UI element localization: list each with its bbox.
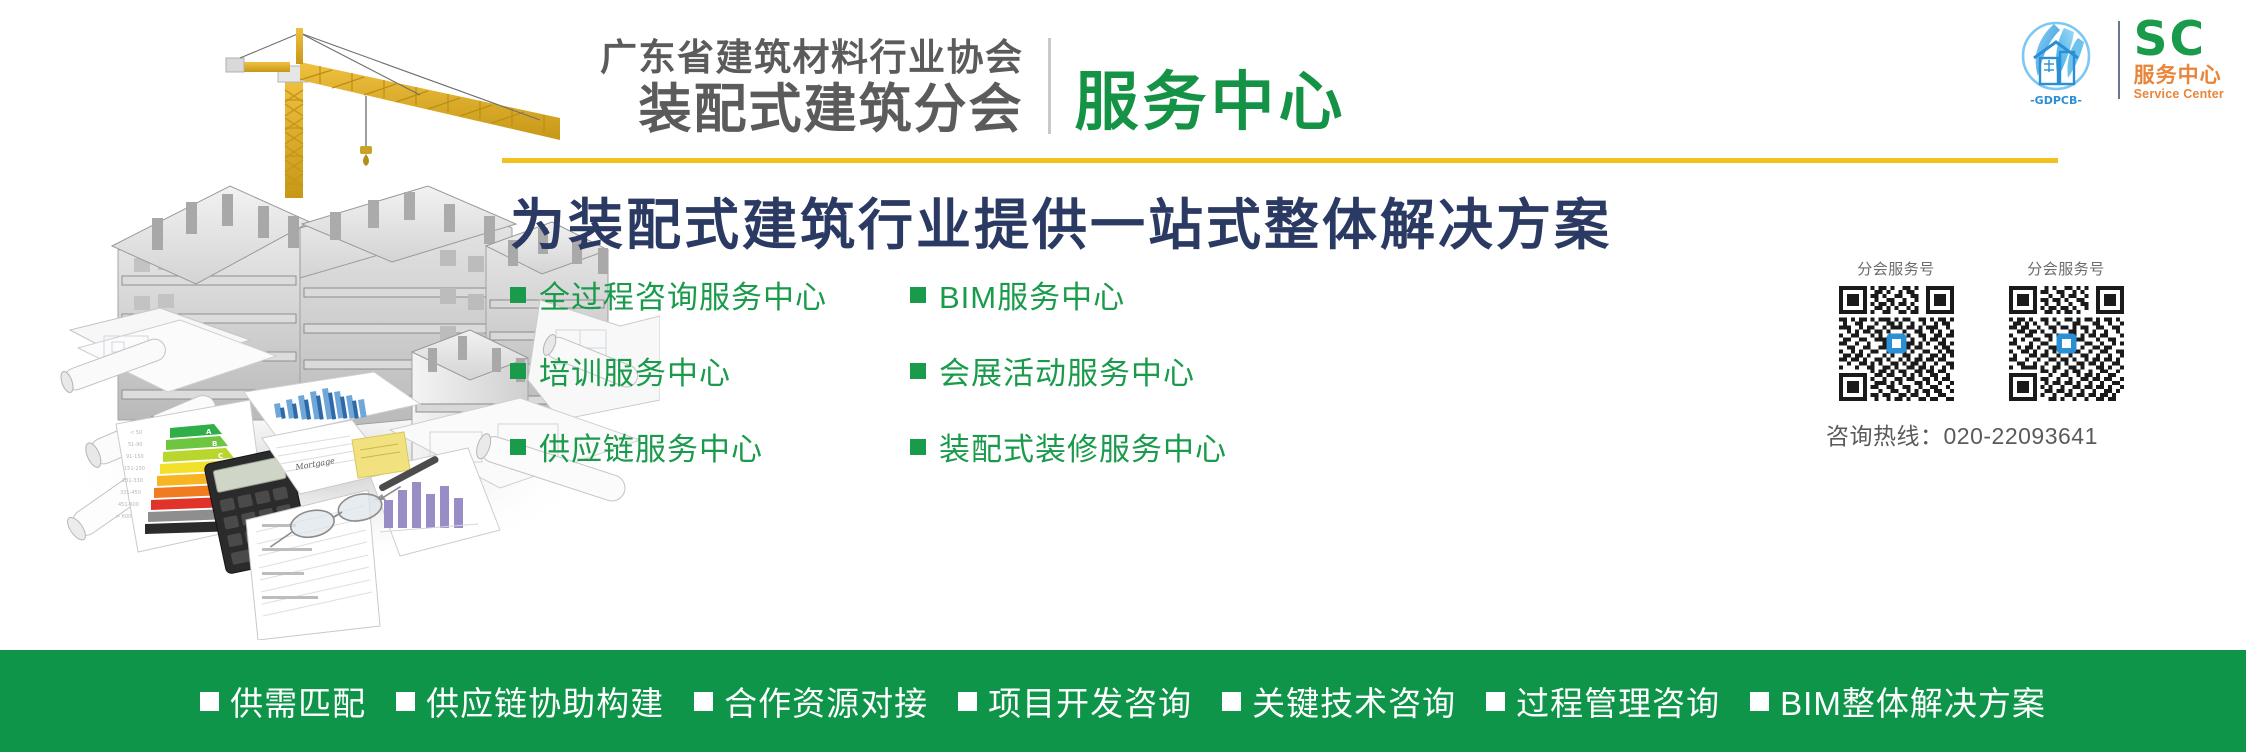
- square-bullet-icon: [1750, 692, 1769, 711]
- square-bullet-icon: [396, 692, 415, 711]
- service-item[interactable]: 会展活动服务中心: [910, 348, 1227, 393]
- square-bullet-icon: [910, 363, 926, 379]
- service-center-title: 服务中心: [1075, 70, 1347, 136]
- svg-text:C: C: [218, 452, 223, 460]
- square-bullet-icon: [510, 363, 526, 379]
- svg-text:451-600: 451-600: [118, 502, 139, 508]
- footer-item[interactable]: 关键技术咨询: [1222, 677, 1456, 725]
- footer-item[interactable]: 项目开发咨询: [958, 677, 1192, 725]
- square-bullet-icon: [958, 692, 977, 711]
- header-title-row: 广东省建筑材料行业协会 装配式建筑分会 服务中心: [600, 38, 1347, 136]
- footer-item-label: 关键技术咨询: [1252, 677, 1456, 725]
- square-bullet-icon: [510, 287, 526, 303]
- association-name: 广东省建筑材料行业协会 装配式建筑分会: [600, 39, 1024, 136]
- svg-text:331-450: 331-450: [120, 490, 141, 496]
- footer-item-label: 过程管理咨询: [1516, 677, 1720, 725]
- service-item-label: 培训服务中心: [539, 348, 731, 393]
- qr-caption: 分会服务号: [1857, 258, 1935, 279]
- square-bullet-icon: [910, 439, 926, 455]
- footer-item-label: 供应链协助构建: [426, 677, 664, 725]
- svg-text:91-150: 91-150: [126, 454, 144, 460]
- service-item[interactable]: 全过程咨询服务中心: [510, 272, 910, 317]
- footer-item-label: 项目开发咨询: [988, 677, 1192, 725]
- service-item[interactable]: 装配式装修服务中心: [910, 424, 1227, 469]
- hotline-text: 咨询热线：020-22093641: [1816, 417, 2236, 451]
- footer-item[interactable]: 过程管理咨询: [1486, 677, 1720, 725]
- square-bullet-icon: [510, 439, 526, 455]
- qr-code-icon[interactable]: [1839, 286, 1954, 401]
- house-leaf-logo-icon: -GDPCB-: [2008, 12, 2104, 108]
- service-item[interactable]: 供应链服务中心: [510, 424, 910, 469]
- page-title: 为装配式建筑行业提供一站式整体解决方案: [510, 180, 1612, 260]
- service-item-label: 装配式装修服务中心: [939, 424, 1227, 469]
- service-item-label: 会展活动服务中心: [939, 348, 1195, 393]
- svg-text:51-90: 51-90: [128, 442, 143, 448]
- qr-code-entry[interactable]: 分会服务号: [1996, 258, 2136, 401]
- service-item[interactable]: 培训服务中心: [510, 348, 910, 393]
- promo-banner: ABC DEF GHI < 5051-90 91-150151-230 231-…: [0, 0, 2246, 752]
- logo-en-text: Service Center: [2134, 87, 2224, 102]
- association-line2: 装配式建筑分会: [639, 83, 1024, 136]
- square-bullet-icon: [200, 692, 219, 711]
- qr-caption: 分会服务号: [2027, 258, 2105, 279]
- logo-mark-label: -GDPCB-: [2030, 94, 2082, 107]
- banner-content: -GDPCB- SC 服务中心 Service Center 广东省建筑材料行业…: [660, 0, 2246, 640]
- service-item-label: 供应链服务中心: [539, 424, 763, 469]
- logo-divider: [2118, 21, 2120, 99]
- footer-item-label: 供需匹配: [230, 677, 366, 725]
- square-bullet-icon: [910, 287, 926, 303]
- square-bullet-icon: [1486, 692, 1505, 711]
- association-line1: 广东省建筑材料行业协会: [600, 39, 1024, 76]
- service-item[interactable]: BIM服务中心: [910, 272, 1227, 317]
- footer-item[interactable]: 合作资源对接: [694, 677, 928, 725]
- footer-item[interactable]: 供需匹配: [200, 677, 366, 725]
- svg-text:> 600: > 600: [116, 514, 131, 520]
- sticky-note-icon: [352, 432, 410, 478]
- square-bullet-icon: [1222, 692, 1241, 711]
- yellow-divider-rule: [502, 158, 2058, 163]
- footer-item[interactable]: BIM整体解决方案: [1750, 677, 2046, 725]
- qr-code-icon[interactable]: [2009, 286, 2124, 401]
- square-bullet-icon: [694, 692, 713, 711]
- footer-item[interactable]: 供应链协助构建: [396, 677, 664, 725]
- title-vertical-divider: [1048, 38, 1051, 134]
- service-center-list: 全过程咨询服务中心 BIM服务中心 培训服务中心 会展活动服务中心 供应链服务中…: [510, 272, 1227, 469]
- qr-contact-block: 分会服务号: [1816, 258, 2236, 451]
- footer-service-bar: 供需匹配 供应链协助构建 合作资源对接 项目开发咨询 关键技术咨询 过程管理咨询: [0, 650, 2246, 752]
- logo-sc-text: SC: [2134, 18, 2206, 63]
- svg-text:151-230: 151-230: [124, 466, 145, 472]
- svg-text:231-330: 231-330: [122, 478, 143, 484]
- brand-logo: -GDPCB- SC 服务中心 Service Center: [2008, 12, 2224, 108]
- logo-cn-text: 服务中心: [2134, 64, 2222, 87]
- footer-item-label: 合作资源对接: [724, 677, 928, 725]
- service-item-label: 全过程咨询服务中心: [539, 272, 827, 317]
- svg-text:< 50: < 50: [130, 430, 142, 436]
- qr-code-entry[interactable]: 分会服务号: [1826, 258, 1966, 401]
- footer-item-label: BIM整体解决方案: [1780, 677, 2046, 725]
- service-item-label: BIM服务中心: [939, 272, 1125, 317]
- svg-text:B: B: [212, 440, 217, 448]
- svg-text:A: A: [206, 428, 212, 436]
